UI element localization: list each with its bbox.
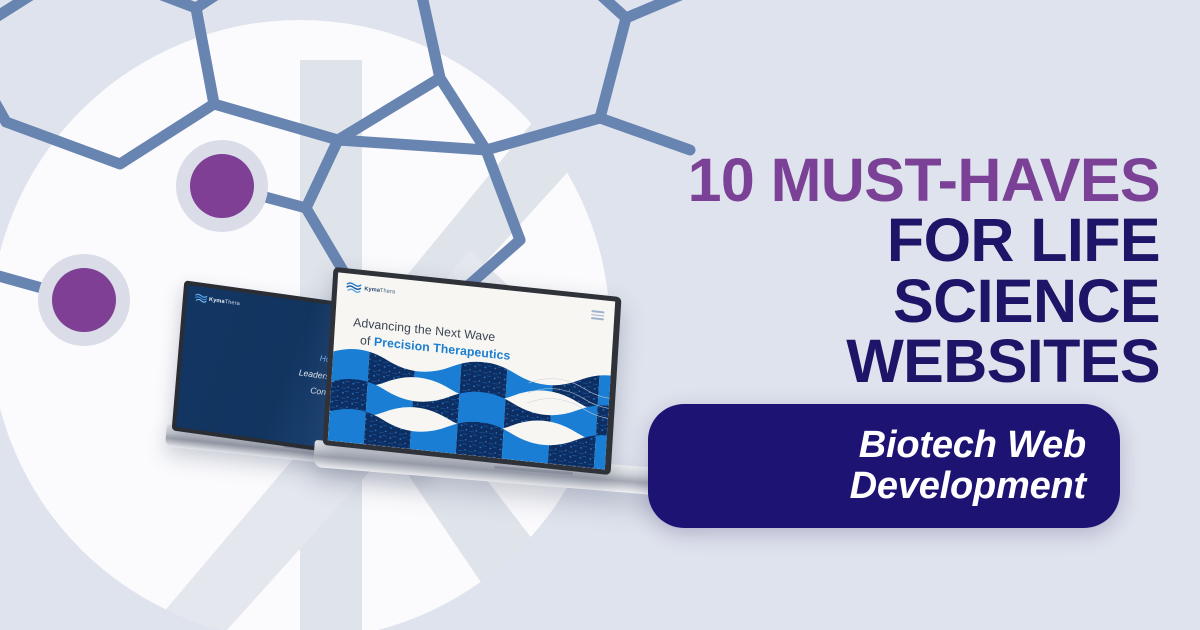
category-badge[interactable]: Biotech Web Development (648, 404, 1120, 528)
headline-line-2: FOR LIFE SCIENCE (620, 210, 1160, 331)
laptop-front-viewport: KymaThera Advancing the Next Wave of Pre… (328, 272, 615, 469)
badge-line-1: Biotech Web (850, 425, 1086, 466)
wave-lines-logo-icon (346, 281, 362, 294)
headline-line-1: 10 MUST-HAVES (620, 150, 1160, 210)
laptop-front-screen: KymaThera Advancing the Next Wave of Pre… (322, 267, 621, 475)
hamburger-menu-icon[interactable] (591, 310, 605, 320)
wave-lines-logo-icon (195, 293, 208, 304)
brand-wordmark-front: KymaThera (364, 286, 395, 295)
brand-wordmark-back: KymaThera (209, 296, 240, 306)
badge-line-2: Development (850, 466, 1086, 507)
brand-logo-front[interactable]: KymaThera (346, 281, 395, 297)
headline-line-3: WEBSITES (620, 331, 1160, 391)
headline-block: 10 MUST-HAVES FOR LIFE SCIENCE WEBSITES (620, 150, 1160, 392)
poster-canvas: KymaThera Home Leadership Contact (0, 0, 1200, 630)
hero-line-2-prefix: of (360, 333, 375, 348)
brand-logo-back[interactable]: KymaThera (195, 293, 241, 308)
category-badge-text: Biotech Web Development (850, 425, 1086, 507)
